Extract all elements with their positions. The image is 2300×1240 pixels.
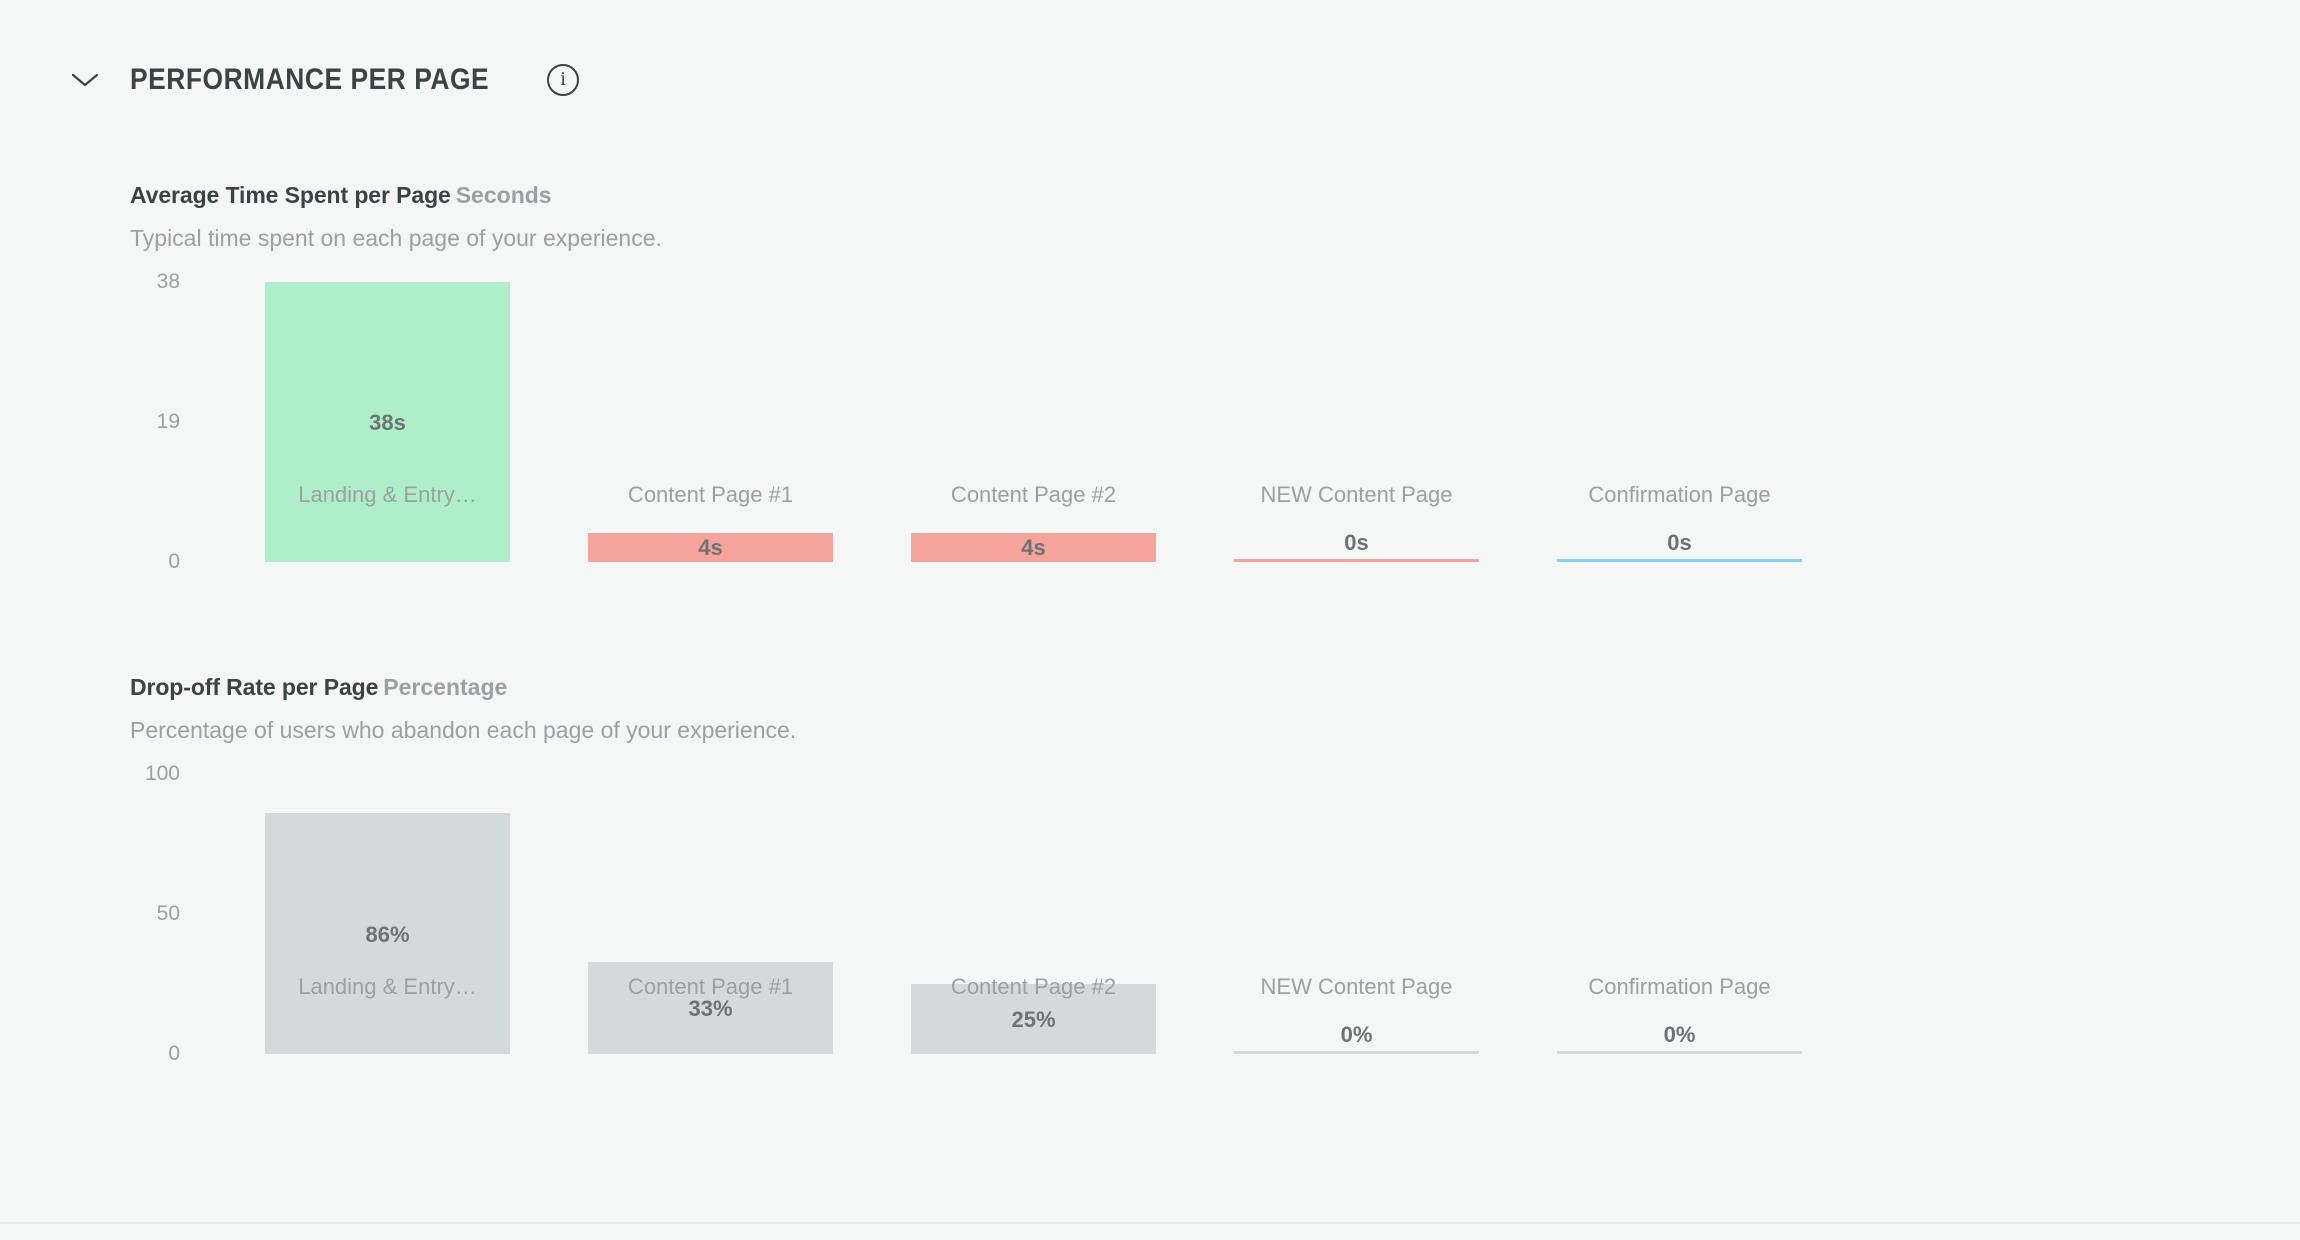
bar-value-label: 0%: [1234, 1022, 1479, 1048]
bar-column[interactable]: 0s: [1557, 282, 1802, 562]
bar-value-label: 0%: [1557, 1022, 1802, 1048]
x-axis-label: NEW Content Page: [1261, 482, 1453, 508]
y-axis-tick: 0: [168, 550, 180, 574]
bar-column[interactable]: 4s: [588, 282, 833, 562]
x-axis-label: Landing & Entry…: [298, 974, 477, 1000]
bar-column[interactable]: 0%: [1234, 774, 1479, 1054]
bar-value-label: 4s: [588, 535, 833, 561]
y-axis-tick: 38: [157, 270, 180, 294]
y-axis-tick: 50: [157, 902, 180, 926]
bar-value-label: 0s: [1234, 530, 1479, 556]
x-axis-labels: Landing & Entry…Content Page #1Content P…: [265, 974, 1835, 1010]
bar-value-label: 38s: [265, 410, 510, 436]
bar-zero-line: [1234, 1051, 1479, 1054]
bar-column[interactable]: 33%: [588, 774, 833, 1054]
section-divider: [0, 1222, 2300, 1224]
x-axis-label: Content Page #2: [951, 482, 1116, 508]
y-axis: 100500: [100, 774, 180, 1054]
bar-column[interactable]: 25%: [911, 774, 1156, 1054]
y-axis: 38190: [100, 282, 180, 562]
x-axis-labels: Landing & Entry…Content Page #1Content P…: [265, 482, 1835, 518]
info-icon[interactable]: i: [547, 64, 579, 96]
bar-zero-line: [1234, 559, 1479, 562]
y-axis-tick: 19: [157, 410, 180, 434]
bar-group: 38s4s4s0s0s: [265, 282, 1835, 562]
chevron-down-icon[interactable]: [62, 58, 108, 102]
performance-per-page-panel: PERFORMANCE PER PAGE i Average Time Spen…: [0, 0, 2300, 1240]
bar-value-label: 86%: [265, 922, 510, 948]
chart-heading: Average Time Spent per PageSeconds: [130, 182, 552, 209]
y-axis-tick: 100: [145, 762, 180, 786]
bar-value-label: 4s: [911, 535, 1156, 561]
bar-column[interactable]: 4s: [911, 282, 1156, 562]
bar-zero-line: [1557, 1051, 1802, 1054]
page-title: PERFORMANCE PER PAGE: [130, 63, 489, 97]
x-axis-label: Confirmation Page: [1588, 974, 1770, 1000]
chart-heading: Drop-off Rate per PagePercentage: [130, 674, 507, 701]
x-axis-label: Confirmation Page: [1588, 482, 1770, 508]
x-axis-label: Content Page #2: [951, 974, 1116, 1000]
bar-column[interactable]: 86%: [265, 774, 510, 1054]
chart-unit: Seconds: [456, 182, 552, 208]
bar-column[interactable]: 0%: [1557, 774, 1802, 1054]
chart-unit: Percentage: [383, 674, 507, 700]
info-icon-glyph: i: [560, 69, 566, 89]
x-axis-label: Content Page #1: [628, 974, 793, 1000]
y-axis-tick: 0: [168, 1042, 180, 1066]
bar-column[interactable]: 0s: [1234, 282, 1479, 562]
x-axis-label: Content Page #1: [628, 482, 793, 508]
chart-description: Percentage of users who abandon each pag…: [130, 717, 796, 744]
bar-column[interactable]: 38s: [265, 282, 510, 562]
bar-zero-line: [1557, 559, 1802, 562]
bar-chart-dropoff-rate: 100500 86%33%25%0%0%: [0, 774, 1900, 1054]
chart-title: Average Time Spent per Page: [130, 182, 451, 208]
bar-chart-time-spent: 38190 38s4s4s0s0s: [0, 282, 1900, 562]
section-header: PERFORMANCE PER PAGE i: [62, 58, 579, 102]
bar-group: 86%33%25%0%0%: [265, 774, 1835, 1054]
chart-description: Typical time spent on each page of your …: [130, 225, 662, 252]
x-axis-label: NEW Content Page: [1261, 974, 1453, 1000]
bar-value-label: 25%: [911, 1007, 1156, 1033]
chart-title: Drop-off Rate per Page: [130, 674, 378, 700]
bar-value-label: 0s: [1557, 530, 1802, 556]
x-axis-label: Landing & Entry…: [298, 482, 477, 508]
